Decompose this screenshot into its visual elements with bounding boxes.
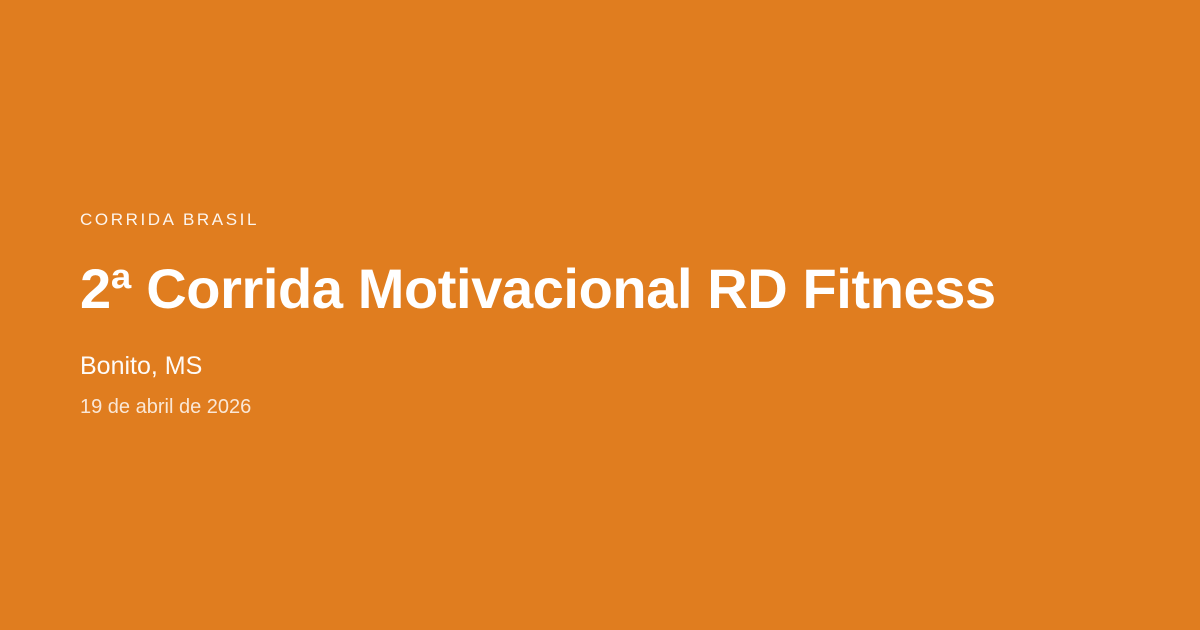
event-date: 19 de abril de 2026: [80, 395, 1120, 419]
event-text-block: CORRIDA BRASIL 2ª Corrida Motivacional R…: [80, 211, 1120, 419]
event-title: 2ª Corrida Motivacional RD Fitness: [80, 258, 1120, 321]
brand-eyebrow: CORRIDA BRASIL: [80, 211, 1120, 228]
event-share-card: CORRIDA BRASIL 2ª Corrida Motivacional R…: [0, 0, 1200, 630]
event-location: Bonito, MS: [80, 351, 1120, 381]
